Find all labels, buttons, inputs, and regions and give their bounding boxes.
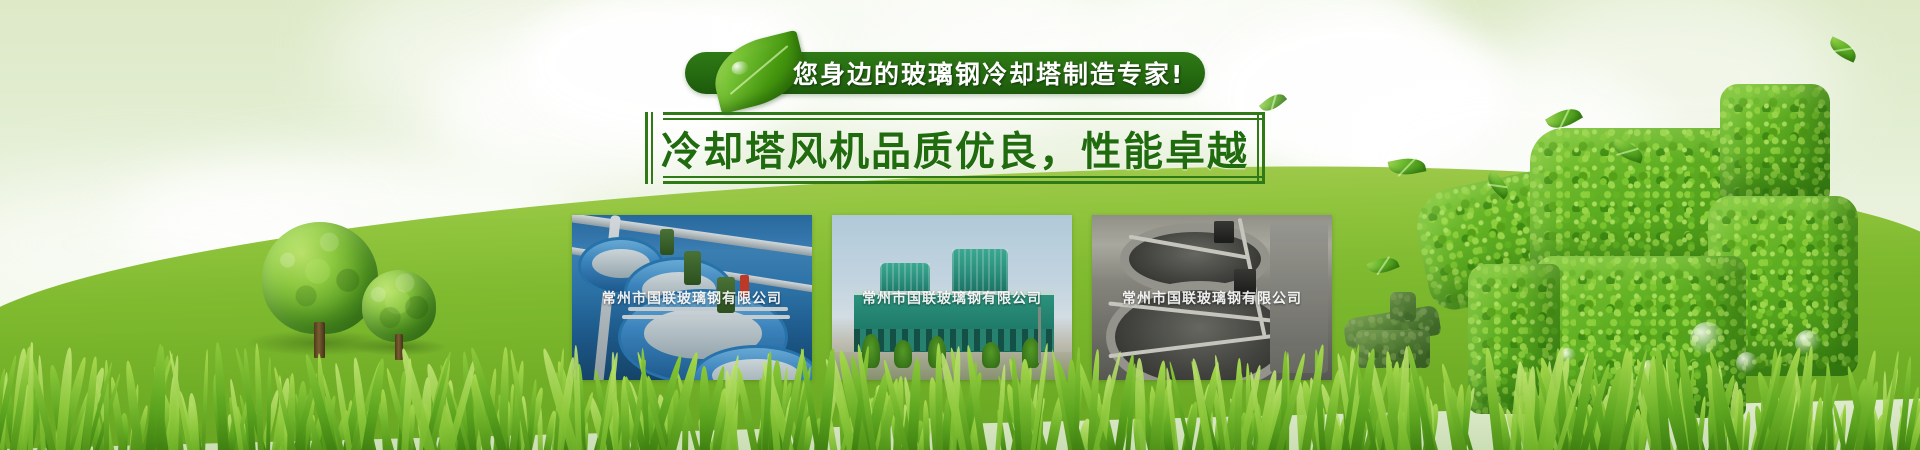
photo-watermark: 常州市国联玻璃钢有限公司: [1092, 288, 1332, 308]
grass-blade: [1483, 348, 1504, 450]
headline-frame: 冷却塔风机品质优良，性能卓越: [645, 112, 1265, 184]
promotional-banner: 您身边的玻璃钢冷却塔制造专家! 冷却塔风机品质优良，性能卓越: [0, 0, 1920, 450]
grass-blade: [201, 349, 209, 450]
photo-watermark: 常州市国联玻璃钢有限公司: [572, 288, 812, 308]
grass-blade: [1135, 358, 1147, 450]
tagline-text: 您身边的玻璃钢冷却塔制造专家!: [793, 55, 1184, 91]
headline-rule-top: [663, 112, 1263, 115]
grass-blade: [735, 367, 759, 450]
grass-blade: [266, 357, 272, 450]
headline-rule-bottom: [663, 181, 1263, 184]
grass-blade: [254, 343, 265, 450]
grass-foreground: [0, 330, 1920, 450]
photo-watermark: 常州市国联玻璃钢有限公司: [832, 288, 1072, 308]
page-title: 冷却塔风机品质优良，性能卓越: [645, 119, 1265, 177]
tree-icon: [262, 222, 378, 338]
tagline-bar: 您身边的玻璃钢冷却塔制造专家!: [685, 52, 1205, 94]
